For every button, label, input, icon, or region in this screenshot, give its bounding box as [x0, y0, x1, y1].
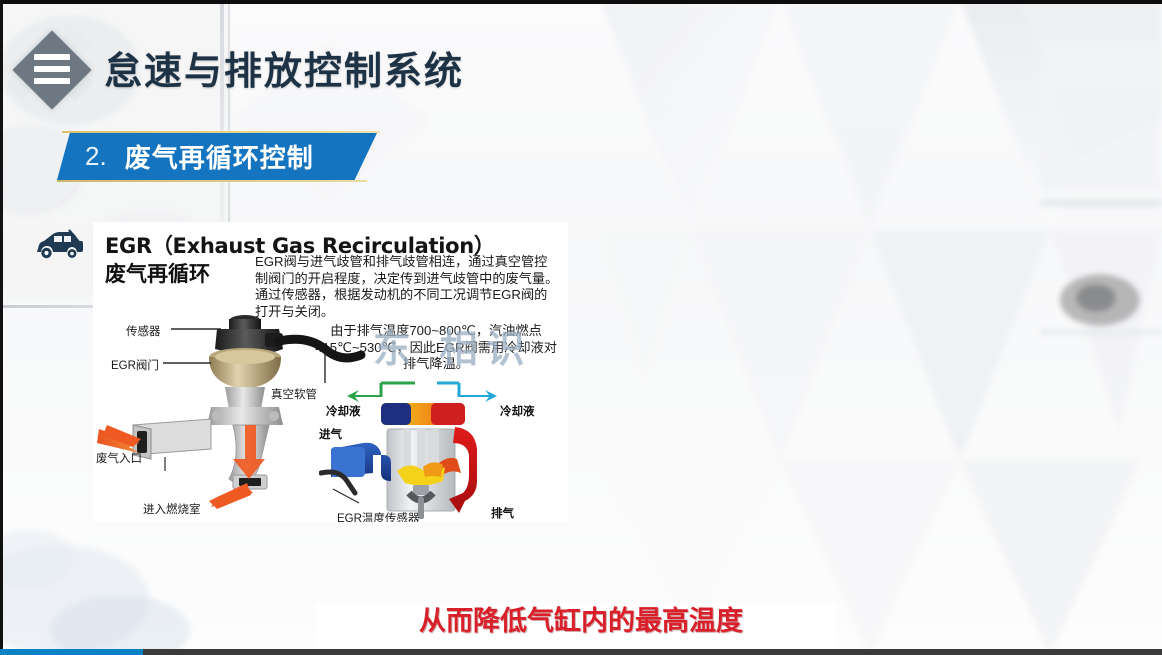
- section-number: 2.: [85, 141, 107, 172]
- cylinder-coolant-illustration: [319, 377, 534, 522]
- diamond-three-bars-icon: [16, 34, 88, 106]
- section-banner[interactable]: 2. 废气再循环控制: [57, 133, 377, 180]
- car-side-icon: [33, 228, 85, 264]
- banner-bottom-accent: [57, 180, 367, 182]
- label-exhaust-inlet: 废气入口: [96, 450, 142, 466]
- label-egr-valve: EGR阀门: [111, 357, 159, 373]
- page-title: 怠速与排放控制系统: [104, 40, 464, 95]
- label-coolant-right: 冷却液: [500, 403, 535, 419]
- label-intake: 进气: [319, 426, 342, 442]
- left-black-edge: [0, 0, 3, 655]
- label-egr-temp-sensor: EGR温度传感器: [337, 510, 419, 522]
- label-sensor: 传感器: [126, 323, 161, 339]
- label-into-combustion-chamber: 进入燃烧室: [143, 501, 201, 517]
- panel-heading-cn: 废气再循环: [105, 258, 210, 288]
- three-bars-glyph: [34, 54, 70, 90]
- content-image-panel: EGR（Exhaust Gas Recirculation） 废气再循环 EGR…: [93, 222, 568, 522]
- bottom-bar: [0, 649, 1162, 655]
- slide-header: 怠速与排放控制系统: [0, 4, 1162, 124]
- label-exhaust: 排气: [491, 505, 514, 521]
- label-coolant-left: 冷却液: [326, 403, 361, 419]
- label-vacuum-hose: 真空软管: [271, 386, 317, 402]
- top-black-bar: [0, 0, 1162, 4]
- section-label: 废气再循环控制: [125, 138, 314, 175]
- bottom-caption: 从而降低气缸内的最高温度: [0, 599, 1162, 638]
- progress-bar[interactable]: [0, 649, 143, 655]
